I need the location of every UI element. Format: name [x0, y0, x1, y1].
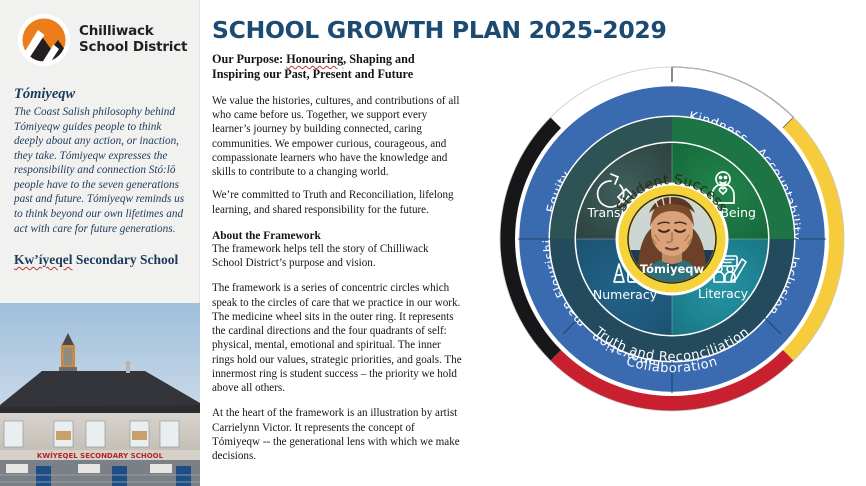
- sidebar: Chilliwack School District Tómiyeqw The …: [0, 0, 200, 486]
- school-growth-plan-page: Chilliwack School District Tómiyeqw The …: [0, 0, 866, 486]
- school-name-indigenous: Kw’íyeqel: [14, 252, 73, 267]
- portrait-caption: Tómiyeqw: [640, 262, 705, 276]
- student-success-center: Student Success: [613, 172, 730, 294]
- framework-heading: About the Framework: [212, 230, 462, 242]
- framework-wheel-diagram: Equity Human Flourishing Innovation Kind…: [478, 45, 866, 433]
- logo-line-1: Chilliwack: [79, 23, 154, 39]
- school-name: Kw’íyeqel Secondary School: [0, 252, 199, 268]
- logo-line-2: School District: [79, 39, 187, 55]
- purpose-statement: Our Purpose: Honouring, Shaping and Insp…: [212, 52, 462, 83]
- goal-label-literacy: Literacy: [698, 286, 749, 301]
- paragraph-circles: The framework is a series of concentric …: [212, 281, 462, 395]
- purpose-prefix: Our Purpose:: [212, 52, 286, 66]
- school-photo: KWÍYEQEL SECONDARY SCHOOL MAIN CAMPUS: [0, 303, 200, 486]
- framework-intro: The framework helps tell the story of Ch…: [212, 242, 462, 271]
- text-column: Our Purpose: Honouring, Shaping and Insp…: [212, 52, 462, 463]
- purpose-keyword: Honouring: [286, 52, 343, 66]
- district-logo: Chilliwack School District: [0, 0, 199, 66]
- paragraph-reconciliation: We’re committed to Truth and Reconciliat…: [212, 188, 462, 217]
- district-logo-text: Chilliwack School District: [79, 24, 187, 56]
- page-title: SCHOOL GROWTH PLAN 2025-2029: [212, 16, 667, 44]
- paragraph-values: We value the histories, cultures, and co…: [212, 94, 462, 180]
- paragraph-artist: At the heart of the framework is an illu…: [212, 406, 462, 463]
- philosophy-body: The Coast Salish philosophy behind Tómiy…: [0, 105, 199, 236]
- philosophy-title: Tómiyeqw: [0, 86, 199, 103]
- main-content: SCHOOL GROWTH PLAN 2025-2029 Our Purpose…: [200, 0, 866, 486]
- chilliwack-mountain-logo-icon: [18, 14, 70, 66]
- school-name-rest: Secondary School: [73, 252, 179, 267]
- school-sign-line-1: KWÍYEQEL SECONDARY SCHOOL: [37, 451, 164, 460]
